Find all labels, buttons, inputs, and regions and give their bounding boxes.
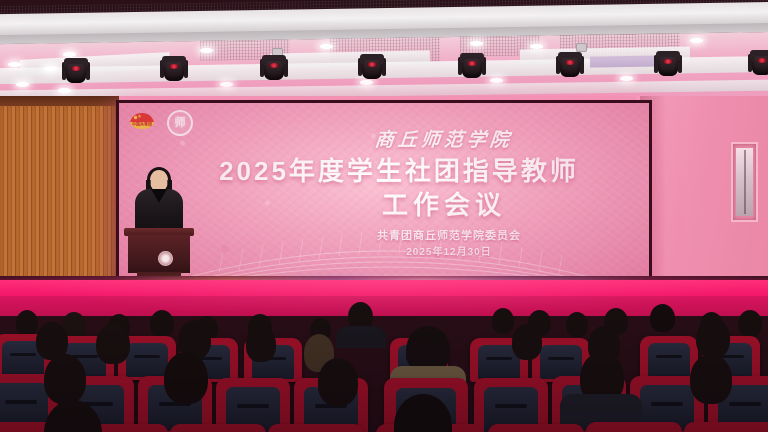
ceiling-downlight	[530, 44, 543, 49]
ceiling-downlight	[320, 44, 333, 49]
stage-moving-head-light	[260, 55, 288, 81]
left-wall-top-trim	[0, 96, 119, 106]
led-screen: 中国共青团 师 商丘师范学院 2025年度学生社团指导教师 工作会议 共青团商丘…	[119, 103, 649, 285]
podium-front-panel	[128, 235, 190, 273]
audience-head	[150, 310, 174, 338]
stage-moving-head-light	[748, 50, 768, 76]
stage-moving-head-light	[654, 51, 682, 77]
ceiling-downlight	[200, 48, 213, 53]
audience-head	[96, 324, 130, 364]
auditorium-seat	[684, 422, 768, 432]
conference-hall-photo: 中国共青团 师 商丘师范学院 2025年度学生社团指导教师 工作会议 共青团商丘…	[0, 0, 768, 432]
ceiling-downlight	[690, 38, 703, 43]
stage-moving-head-light	[358, 54, 386, 80]
speaker-head	[150, 170, 168, 191]
audience-head	[650, 304, 675, 332]
ceiling-sprinkler-vent	[576, 43, 587, 52]
audience-head	[738, 310, 762, 337]
ceiling-downlight	[8, 62, 21, 67]
screen-vignette	[119, 103, 649, 285]
stage-moving-head-light	[458, 53, 486, 79]
audience-head	[164, 352, 208, 404]
audience-head	[690, 354, 732, 404]
audience-shoulders	[336, 326, 386, 348]
led-screen-frame: 中国共青团 师 商丘师范学院 2025年度学生社团指导教师 工作会议 共青团商丘…	[116, 100, 652, 288]
auditorium-seat	[268, 424, 364, 432]
cabinet-divider	[744, 150, 746, 214]
ceiling-downlight	[44, 66, 57, 71]
ceiling-downlight	[63, 52, 76, 57]
stage-moving-head-light	[556, 52, 584, 78]
ceiling-downlight	[220, 82, 233, 87]
audience-seating-area	[0, 296, 768, 432]
ceiling-downlight	[620, 76, 633, 81]
auditorium-seat	[586, 422, 682, 432]
auditorium-seat	[640, 336, 698, 380]
stage-moving-head-light	[160, 56, 188, 82]
podium-university-crest-icon	[158, 251, 173, 266]
audience-head	[696, 318, 730, 358]
ceiling-downlight	[58, 88, 71, 93]
audience-head	[512, 324, 542, 360]
audience-head	[492, 308, 514, 334]
auditorium-seat	[170, 424, 266, 432]
audience-head	[566, 312, 588, 337]
ceiling	[0, 0, 768, 104]
audience-head	[246, 326, 276, 362]
ceiling-downlight	[470, 41, 483, 46]
auditorium-seat	[488, 424, 584, 432]
audience-head	[44, 354, 86, 404]
wall-fire-hose-cabinet	[731, 142, 758, 222]
ceiling-downlight	[360, 80, 373, 85]
ceiling-downlight	[16, 82, 29, 87]
audience-head	[318, 358, 358, 406]
ceiling-downlight	[490, 78, 503, 83]
stage-moving-head-light	[62, 58, 90, 84]
audience-head	[16, 310, 38, 336]
